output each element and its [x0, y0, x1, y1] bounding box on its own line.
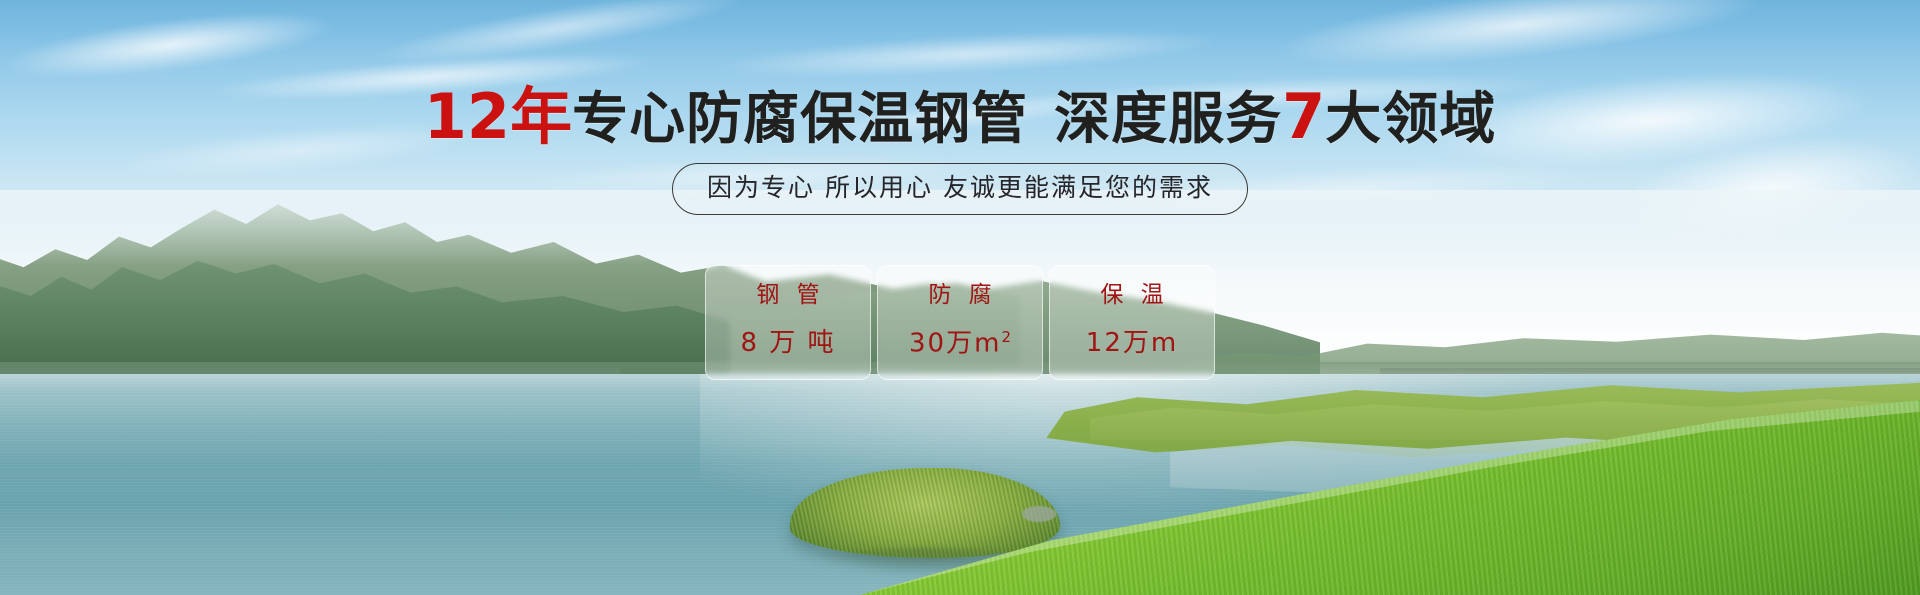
stat-card-value: 12万m	[1086, 330, 1178, 356]
stat-card-value-text: 30万m	[909, 329, 1001, 359]
headline-years-number: 12	[424, 80, 510, 153]
headline-fields-suffix: 大领域	[1325, 87, 1496, 152]
headline-years-suffix: 年	[510, 80, 572, 153]
stat-card-value: 8 万 吨	[740, 330, 835, 356]
stat-card-title: 钢 管	[751, 284, 824, 307]
banner-subtitle-pill: 因为专心 所以用心 友诚更能满足您的需求	[672, 163, 1248, 215]
stat-card-title: 保 温	[1095, 284, 1168, 307]
promo-banner: 12年专心防腐保温钢管深度服务7大领域 因为专心 所以用心 友诚更能满足您的需求…	[0, 0, 1920, 595]
headline-main-text: 专心防腐保温钢管	[572, 87, 1028, 152]
stat-card-value-text: 12万m	[1086, 328, 1178, 358]
stat-card-anticorrosion[interactable]: 防 腐 30万m2	[877, 265, 1043, 380]
banner-content: 12年专心防腐保温钢管深度服务7大领域 因为专心 所以用心 友诚更能满足您的需求…	[0, 0, 1920, 595]
stat-cards-row: 钢 管 8 万 吨 防 腐 30万m2 保 温 12万m	[0, 265, 1920, 380]
banner-headline: 12年专心防腐保温钢管深度服务7大领域	[0, 84, 1920, 151]
headline-service-text: 深度服务	[1054, 87, 1282, 152]
stat-card-title: 防 腐	[923, 284, 996, 307]
headline-fields-number: 7	[1282, 80, 1325, 153]
stat-card-value: 30万m2	[909, 330, 1011, 357]
stat-card-value-text: 8 万 吨	[740, 328, 835, 358]
stat-card-value-superscript: 2	[1001, 328, 1011, 346]
stat-card-steel-pipe[interactable]: 钢 管 8 万 吨	[705, 265, 871, 380]
banner-subtitle-wrapper: 因为专心 所以用心 友诚更能满足您的需求	[0, 163, 1920, 215]
stat-card-insulation[interactable]: 保 温 12万m	[1049, 265, 1215, 380]
